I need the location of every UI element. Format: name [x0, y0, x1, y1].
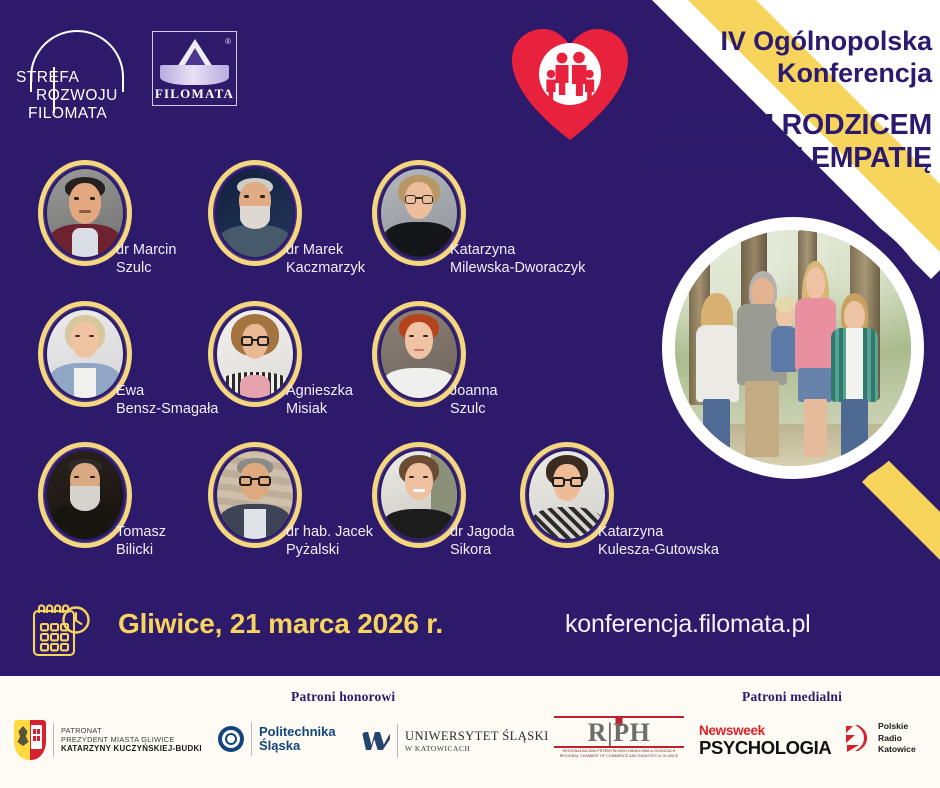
speaker-name: Agnieszka Misiak [286, 383, 353, 419]
speaker-name-line-2: Bilicki [116, 542, 166, 560]
newsweek-logo-icon: Newsweek PSYCHOLOGIA [699, 724, 831, 757]
strefa-rozwoju-filomata-logo[interactable]: STREFA ROZWOJU FILOMATA [14, 30, 142, 114]
subtitle-line-1: JESTEM RODZICEM [560, 109, 932, 142]
speaker-name: dr Marek Kaczmarzyk [286, 242, 365, 278]
logo-polskie-radio-katowice[interactable]: Polskie Radio Katowice [843, 721, 916, 756]
logo-newsweek-psychologia[interactable]: Newsweek PSYCHOLOGIA [699, 724, 831, 757]
gliwice-line-1: PATRONAT [61, 726, 202, 735]
riph-wordmark: R|PH [572, 721, 666, 744]
title-block: IV Ogólnopolska Konferencja JESTEM RODZI… [560, 26, 940, 175]
portrait-jacek-pyzalski [217, 451, 293, 539]
logo-gliwice-patronat[interactable]: PATRONAT PREZYDENT MIASTA GLIWICE KATARZ… [14, 720, 202, 760]
portrait-tomasz-bilicki [47, 451, 123, 539]
speaker-name: dr Jagoda Sikora [450, 524, 515, 560]
speakers-row-3: Tomasz Bilicki [0, 442, 640, 583]
strefa-line-3: FILOMATA [28, 105, 107, 123]
gliwice-line-2: PREZYDENT MIASTA GLIWICE [61, 735, 202, 744]
page-title: IV Ogólnopolska Konferencja [560, 26, 932, 89]
polskie-radio-icon [843, 724, 869, 752]
logo-divider [397, 724, 398, 758]
filomata-logo[interactable]: ® FILOMATA [152, 31, 237, 106]
speaker-name-line-2: Kaczmarzyk [286, 260, 365, 278]
speaker-card[interactable]: dr hab. Jacek Pyżalski [208, 442, 302, 548]
speaker-card[interactable]: Tomasz Bilicki [38, 442, 132, 548]
hero-photo-ring [645, 200, 940, 496]
speakers-grid: dr Marcin Szulc [0, 160, 640, 583]
logo-divider [251, 722, 252, 756]
portrait-marek-kaczmarzyk [217, 169, 293, 257]
polskie-radio-line-2: Radio [878, 733, 916, 745]
riph-subtitle-line-2: REGIONAL CHAMBER OF COMMERCE AND INDUSTR… [554, 754, 684, 759]
speaker-name: Katarzyna Milewska-Dworaczyk [450, 242, 585, 278]
speaker-name-line-1: dr hab. Jacek [286, 524, 373, 542]
speaker-card[interactable]: dr Marek Kaczmarzyk [208, 160, 302, 266]
speaker-card[interactable]: dr Marcin Szulc [38, 160, 132, 266]
uniwersytet-slaski-icon [362, 730, 390, 752]
speaker-name-line-1: Joanna [450, 383, 498, 401]
portrait-katarzyna-milewska-dworaczyk [381, 169, 457, 257]
newsweek-line-1: Newsweek [699, 724, 831, 738]
speaker-name: Ewa Bensz-Smagała [116, 383, 218, 419]
speaker-name: dr hab. Jacek Pyżalski [286, 524, 373, 560]
riph-subtitle: REGIONALNA IZBA PRZEMYSŁOWO-HANDLOWA w G… [554, 749, 684, 760]
title-line-2: Konferencja [560, 58, 932, 90]
logo-politechnika-slaska[interactable]: Politechnika Śląska [218, 722, 336, 756]
gliwice-coat-of-arms-icon [14, 720, 46, 760]
honorary-patrons-heading: Patroni honorowi [291, 689, 395, 705]
speaker-card[interactable]: Katarzyna Milewska-Dworaczyk [372, 160, 466, 266]
speakers-row-1: dr Marcin Szulc [0, 160, 640, 301]
event-info-row: Gliwice, 21 marca 2026 r. konferencja.fi… [0, 596, 940, 670]
strefa-line-1: STREFA [16, 69, 79, 87]
politechnika-line-1: Politechnika [259, 725, 336, 739]
speaker-card[interactable]: Agnieszka Misiak [208, 301, 302, 407]
newsweek-line-2: PSYCHOLOGIA [699, 738, 831, 757]
speaker-name: Tomasz Bilicki [116, 524, 166, 560]
family-in-forest-photo [675, 230, 911, 466]
filomata-wordmark: FILOMATA [153, 86, 236, 102]
speaker-card[interactable]: dr Jagoda Sikora [372, 442, 466, 548]
speaker-name-line-1: dr Marek [286, 242, 365, 260]
portrait-jagoda-sikora [381, 451, 457, 539]
speaker-card[interactable]: Katarzyna Kulesza-Gutowska [520, 442, 614, 548]
speaker-card[interactable]: Ewa Bensz-Smagała [38, 301, 132, 407]
gliwice-line-3: KATARZYNY KUCZYŃSKIEJ-BUDKI [61, 744, 202, 754]
uniwersytet-text: UNIWERSYTET ŚLĄSKI W KATOWICACH [405, 729, 549, 753]
page-subtitle: JESTEM RODZICEM - WYBIERAM EMPATIĘ [560, 109, 932, 175]
portrait-marcin-szulc [47, 169, 123, 257]
speaker-name: dr Marcin Szulc [116, 242, 176, 278]
logo-riph[interactable]: R|PH REGIONALNA IZBA PRZEMYSŁOWO-HANDLOW… [554, 716, 684, 760]
speaker-name-line-1: Agnieszka [286, 383, 353, 401]
portrait-katarzyna-kulesza-gutowska [529, 451, 605, 539]
speaker-name-line-2: Milewska-Dworaczyk [450, 260, 585, 278]
conference-poster: STREFA ROZWOJU FILOMATA ® FILOMATA IV [0, 0, 940, 788]
polskie-radio-line-1: Polskie [878, 721, 916, 733]
riph-logo-icon: R|PH REGIONALNA IZBA PRZEMYSŁOWO-HANDLOW… [554, 716, 684, 760]
event-date: Gliwice, 21 marca 2026 r. [118, 608, 443, 640]
uniwersytet-line-1: UNIWERSYTET ŚLĄSKI [405, 729, 549, 744]
speaker-name-line-2: Kulesza-Gutowska [598, 542, 719, 560]
media-patrons-heading: Patroni medialni [742, 689, 842, 705]
speaker-name-line-1: Ewa [116, 383, 218, 401]
gliwice-patron-text: PATRONAT PREZYDENT MIASTA GLIWICE KATARZ… [61, 726, 202, 754]
portrait-ewa-bensz-smagala [47, 310, 123, 398]
filomata-open-book-icon [160, 65, 229, 85]
speaker-name-line-2: Bensz-Smagała [116, 401, 218, 419]
logo-divider [53, 723, 54, 757]
event-url[interactable]: konferencja.filomata.pl [565, 610, 811, 639]
speaker-name-line-2: Szulc [450, 401, 498, 419]
uniwersytet-line-2: W KATOWICACH [405, 744, 549, 753]
speaker-name-line-2: Sikora [450, 542, 515, 560]
speaker-name-line-1: dr Marcin [116, 242, 176, 260]
speaker-name-line-2: Misiak [286, 401, 353, 419]
speaker-name-line-2: Pyżalski [286, 542, 373, 560]
politechnika-line-2: Śląska [259, 739, 336, 753]
speaker-name-line-1: Katarzyna [450, 242, 585, 260]
subtitle-line-2: - WYBIERAM EMPATIĘ [560, 142, 932, 175]
speaker-name-line-1: dr Jagoda [450, 524, 515, 542]
strefa-line-2: ROZWOJU [36, 87, 118, 105]
speaker-name-line-2: Szulc [116, 260, 176, 278]
portrait-agnieszka-misiak [217, 310, 293, 398]
speaker-name: Joanna Szulc [450, 383, 498, 419]
portrait-joanna-szulc [381, 310, 457, 398]
speaker-name-line-1: Tomasz [116, 524, 166, 542]
registered-mark: ® [225, 37, 231, 46]
riph-bottom-rule [554, 746, 684, 748]
speakers-row-2: Ewa Bensz-Smagała [0, 301, 640, 442]
speaker-name: Katarzyna Kulesza-Gutowska [598, 524, 719, 560]
calendar-clock-icon [30, 602, 92, 660]
logo-uniwersytet-slaski[interactable]: UNIWERSYTET ŚLĄSKI W KATOWICACH [362, 724, 549, 758]
speaker-name-line-1: Katarzyna [598, 524, 719, 542]
hero-photo-inner [675, 230, 911, 466]
polskie-radio-text: Polskie Radio Katowice [878, 721, 916, 756]
speaker-card[interactable]: Joanna Szulc [372, 301, 466, 407]
polskie-radio-line-3: Katowice [878, 744, 916, 756]
politechnika-gear-icon [218, 726, 244, 752]
politechnika-text: Politechnika Śląska [259, 725, 336, 754]
footer-sponsors: Patroni honorowi Patroni medialni PATRON… [0, 676, 940, 788]
title-line-1: IV Ogólnopolska [560, 26, 932, 58]
